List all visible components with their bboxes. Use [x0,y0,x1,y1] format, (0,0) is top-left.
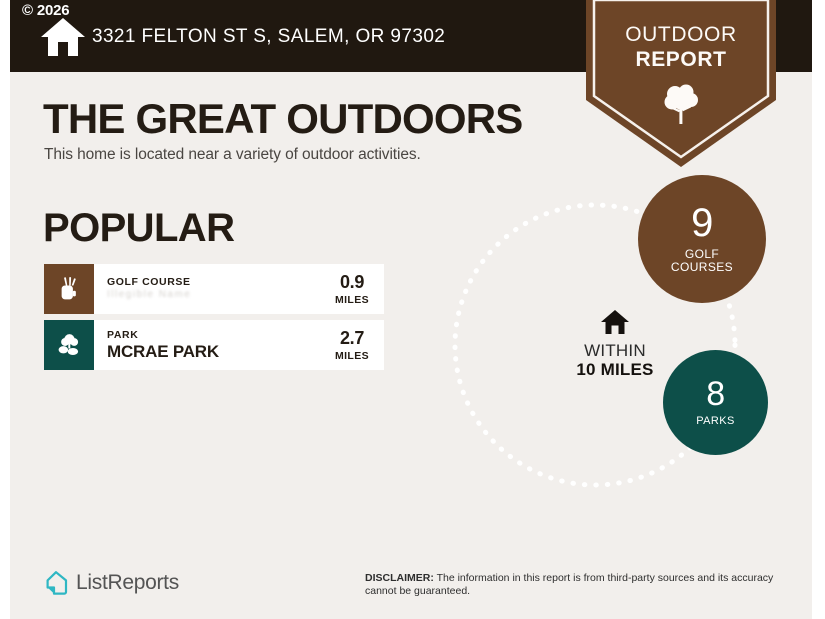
report-canvas: © 2026 3321 FELTON ST S, SALEM, OR 97302… [10,0,812,619]
outdoor-report-page: © 2026 3321 FELTON ST S, SALEM, OR 97302… [0,0,825,619]
home-icon [40,16,86,58]
list-item[interactable]: GOLF COURSE Illegible Name 0.9 MILES [44,264,384,314]
poi-distance: 2.7 MILES [328,328,376,362]
golf-bag-icon [44,264,94,314]
stat-value: 8 [706,378,724,410]
tree-icon [663,82,699,124]
listreports-house-icon [43,570,69,596]
radius-infographic: WITHIN 10 MILES 9 GOLF COURSES 8 PARKS [435,170,795,510]
badge-title: OUTDOOR REPORT [586,22,776,72]
list-item-body: PARK MCRAE PARK 2.7 MILES [94,320,384,370]
poi-distance-value: 2.7 [328,328,376,349]
popular-section-title: POPULAR [43,206,234,251]
poi-distance-value: 0.9 [328,272,376,293]
list-item-text: PARK MCRAE PARK [107,330,219,361]
poi-distance-unit: MILES [328,294,376,306]
poi-category: GOLF COURSE [107,277,191,288]
stat-label: GOLF COURSES [671,248,733,274]
property-address: 3321 FELTON ST S, SALEM, OR 97302 [92,26,445,48]
home-icon [600,309,630,335]
stat-circle-golf-courses: 9 GOLF COURSES [638,175,766,303]
poi-distance-unit: MILES [328,350,376,362]
stat-value: 9 [691,204,713,242]
outdoor-report-badge: OUTDOOR REPORT [586,0,776,167]
poi-name: Illegible Name [107,290,191,301]
badge-title-line2: REPORT [586,47,776,72]
stat-circle-parks: 8 PARKS [663,350,768,455]
poi-name: MCRAE PARK [107,343,219,361]
disclaimer: DISCLAIMER: The information in this repo… [365,572,785,598]
popular-poi-list: GOLF COURSE Illegible Name 0.9 MILES [44,264,384,376]
radius-within-label: WITHIN [535,341,695,360]
list-item[interactable]: PARK MCRAE PARK 2.7 MILES [44,320,384,370]
listreports-wordmark: ListReports [76,571,179,595]
radius-center-label: WITHIN 10 MILES [535,309,695,379]
list-item-text: GOLF COURSE Illegible Name [107,277,191,301]
list-item-body: GOLF COURSE Illegible Name 0.9 MILES [94,264,384,314]
stat-label: PARKS [696,415,734,428]
disclaimer-label: DISCLAIMER: [365,572,434,584]
poi-distance: 0.9 MILES [328,272,376,306]
page-title: THE GREAT OUTDOORS [43,95,523,143]
badge-title-line1: OUTDOOR [586,22,776,47]
listreports-logo[interactable]: ListReports [43,570,179,596]
poi-category: PARK [107,330,219,341]
stat-label-line2: COURSES [671,261,733,274]
park-trees-icon [44,320,94,370]
page-subtitle: This home is located near a variety of o… [44,146,421,164]
